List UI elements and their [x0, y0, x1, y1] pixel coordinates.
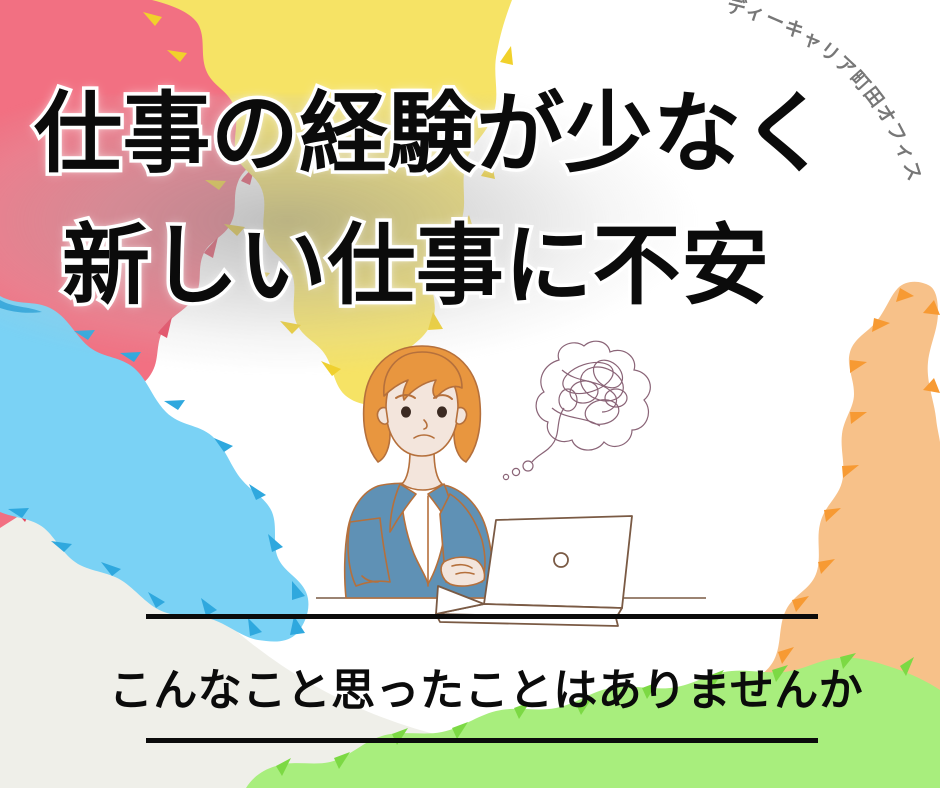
title-line-1: 仕事の経験が少なく: [34, 82, 940, 186]
caption-block: こんなこと思ったことはありませんか: [146, 640, 826, 732]
caption-rule-bottom: [146, 738, 818, 743]
title-line-2: 新しい仕事に不安: [62, 214, 940, 318]
eye-left: [401, 406, 411, 417]
hands: [441, 557, 484, 586]
poster-canvas: 仕事の経験が少なく 新しい仕事に不安 ディーキャリア町田オフィス: [0, 0, 940, 788]
ear-right: [456, 408, 467, 424]
ear-left: [377, 408, 388, 424]
eye-right: [437, 406, 447, 417]
caption-text: こんなこと思ったことはありませんか: [109, 654, 863, 718]
woman-figure: [345, 346, 496, 598]
caption-rule-top: [146, 614, 818, 619]
worried-woman-illustration: [316, 338, 706, 634]
page-title: 仕事の経験が少なく 新しい仕事に不安: [0, 82, 940, 318]
laptop-camera-dot: [554, 553, 568, 567]
scribble-thought-bubble: [503, 341, 650, 479]
